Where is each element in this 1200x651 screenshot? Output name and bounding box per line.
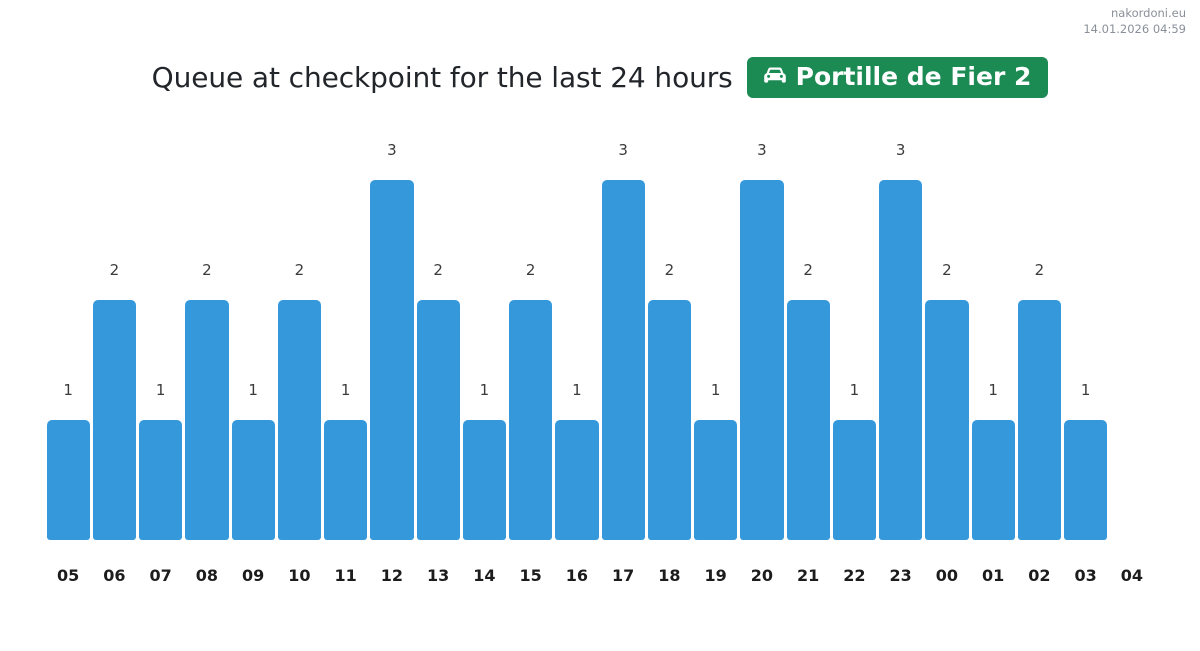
x-axis-tick: 18 xyxy=(646,568,692,584)
bar[interactable] xyxy=(833,420,876,540)
bar[interactable] xyxy=(740,180,783,540)
x-axis-tick: 12 xyxy=(369,568,415,584)
bar-slot: 2 xyxy=(924,130,970,540)
bar[interactable] xyxy=(925,300,968,540)
x-axis-tick: 06 xyxy=(91,568,137,584)
bar-slot: 1 xyxy=(970,130,1016,540)
x-axis-tick: 13 xyxy=(415,568,461,584)
car-icon xyxy=(761,66,789,88)
bar-value-label: 2 xyxy=(508,263,554,278)
bar-value-label: 3 xyxy=(369,143,415,158)
x-axis-tick: 23 xyxy=(878,568,924,584)
chart-title-row: Queue at checkpoint for the last 24 hour… xyxy=(0,57,1200,98)
bar-slot: 2 xyxy=(785,130,831,540)
bar-value-label: 1 xyxy=(138,383,184,398)
bar-slot: 1 xyxy=(230,130,276,540)
x-axis-tick: 02 xyxy=(1016,568,1062,584)
bar[interactable] xyxy=(47,420,90,540)
x-axis-tick: 11 xyxy=(323,568,369,584)
bar[interactable] xyxy=(93,300,136,540)
x-axis: 0506070809101112131415161718192021222300… xyxy=(45,568,1155,598)
bar[interactable] xyxy=(324,420,367,540)
bar-value-label: 1 xyxy=(230,383,276,398)
bar-value-label: 1 xyxy=(461,383,507,398)
bar[interactable] xyxy=(648,300,691,540)
bar-slot: 1 xyxy=(831,130,877,540)
bar[interactable] xyxy=(232,420,275,540)
bar-value-label: 1 xyxy=(45,383,91,398)
bar-chart: 12121213212132132132121 xyxy=(45,130,1155,540)
bar[interactable] xyxy=(370,180,413,540)
bar-slot: 1 xyxy=(138,130,184,540)
bar-value-label: 1 xyxy=(1063,383,1109,398)
bar-value-label: 2 xyxy=(184,263,230,278)
x-axis-tick: 05 xyxy=(45,568,91,584)
bar[interactable] xyxy=(1018,300,1061,540)
bar[interactable] xyxy=(879,180,922,540)
x-axis-tick: 15 xyxy=(508,568,554,584)
bar-slot: 3 xyxy=(739,130,785,540)
bar-slot: 2 xyxy=(646,130,692,540)
bar-value-label: 1 xyxy=(693,383,739,398)
bar-slot: 3 xyxy=(878,130,924,540)
watermark-site: nakordoni.eu xyxy=(1083,6,1186,22)
bar-slot: 1 xyxy=(323,130,369,540)
bar-slot: 2 xyxy=(184,130,230,540)
bar-value-label: 3 xyxy=(878,143,924,158)
bar[interactable] xyxy=(972,420,1015,540)
bar-value-label: 2 xyxy=(785,263,831,278)
bar[interactable] xyxy=(185,300,228,540)
x-axis-tick: 03 xyxy=(1063,568,1109,584)
bar-value-label: 2 xyxy=(276,263,322,278)
x-axis-tick: 21 xyxy=(785,568,831,584)
bar[interactable] xyxy=(694,420,737,540)
page-title: Queue at checkpoint for the last 24 hour… xyxy=(152,61,733,94)
bar-slot: 2 xyxy=(508,130,554,540)
bar-slot: 2 xyxy=(1016,130,1062,540)
bar[interactable] xyxy=(463,420,506,540)
bar-value-label: 1 xyxy=(831,383,877,398)
bar-slot: 3 xyxy=(369,130,415,540)
checkpoint-badge[interactable]: Portille de Fier 2 xyxy=(747,57,1049,98)
checkpoint-badge-label: Portille de Fier 2 xyxy=(796,64,1032,89)
bar-value-label: 2 xyxy=(924,263,970,278)
x-axis-tick: 10 xyxy=(276,568,322,584)
bar-value-label: 1 xyxy=(970,383,1016,398)
watermark-timestamp: 14.01.2026 04:59 xyxy=(1083,22,1186,38)
bar-value-label: 1 xyxy=(323,383,369,398)
x-axis-tick: 08 xyxy=(184,568,230,584)
x-axis-tick: 20 xyxy=(739,568,785,584)
bar-slot: 1 xyxy=(693,130,739,540)
bar-value-label: 2 xyxy=(646,263,692,278)
x-axis-tick: 01 xyxy=(970,568,1016,584)
bar-value-label: 2 xyxy=(1016,263,1062,278)
x-axis-tick: 04 xyxy=(1109,568,1155,584)
x-axis-tick: 14 xyxy=(461,568,507,584)
bar-value-label: 3 xyxy=(600,143,646,158)
bar[interactable] xyxy=(555,420,598,540)
bar[interactable] xyxy=(278,300,321,540)
bar-value-label: 1 xyxy=(554,383,600,398)
bar-slot: 2 xyxy=(91,130,137,540)
bar-slot: 2 xyxy=(276,130,322,540)
x-axis-tick: 19 xyxy=(693,568,739,584)
bar-slot: 2 xyxy=(415,130,461,540)
bar-slot: 1 xyxy=(554,130,600,540)
x-axis-tick: 07 xyxy=(138,568,184,584)
bar[interactable] xyxy=(1064,420,1107,540)
x-axis-tick: 16 xyxy=(554,568,600,584)
bar-value-label: 3 xyxy=(739,143,785,158)
bar-slot: 3 xyxy=(600,130,646,540)
bar[interactable] xyxy=(417,300,460,540)
watermark: nakordoni.eu 14.01.2026 04:59 xyxy=(1083,6,1186,37)
bar-value-label: 2 xyxy=(415,263,461,278)
x-axis-tick: 09 xyxy=(230,568,276,584)
bar[interactable] xyxy=(787,300,830,540)
bar[interactable] xyxy=(139,420,182,540)
bar-slot: 1 xyxy=(45,130,91,540)
bar-slot: 1 xyxy=(461,130,507,540)
bar-slot: 1 xyxy=(1063,130,1109,540)
x-axis-tick: 17 xyxy=(600,568,646,584)
x-axis-tick: 22 xyxy=(831,568,877,584)
bar[interactable] xyxy=(602,180,645,540)
x-axis-tick: 00 xyxy=(924,568,970,584)
bar-value-label: 2 xyxy=(91,263,137,278)
bar[interactable] xyxy=(509,300,552,540)
